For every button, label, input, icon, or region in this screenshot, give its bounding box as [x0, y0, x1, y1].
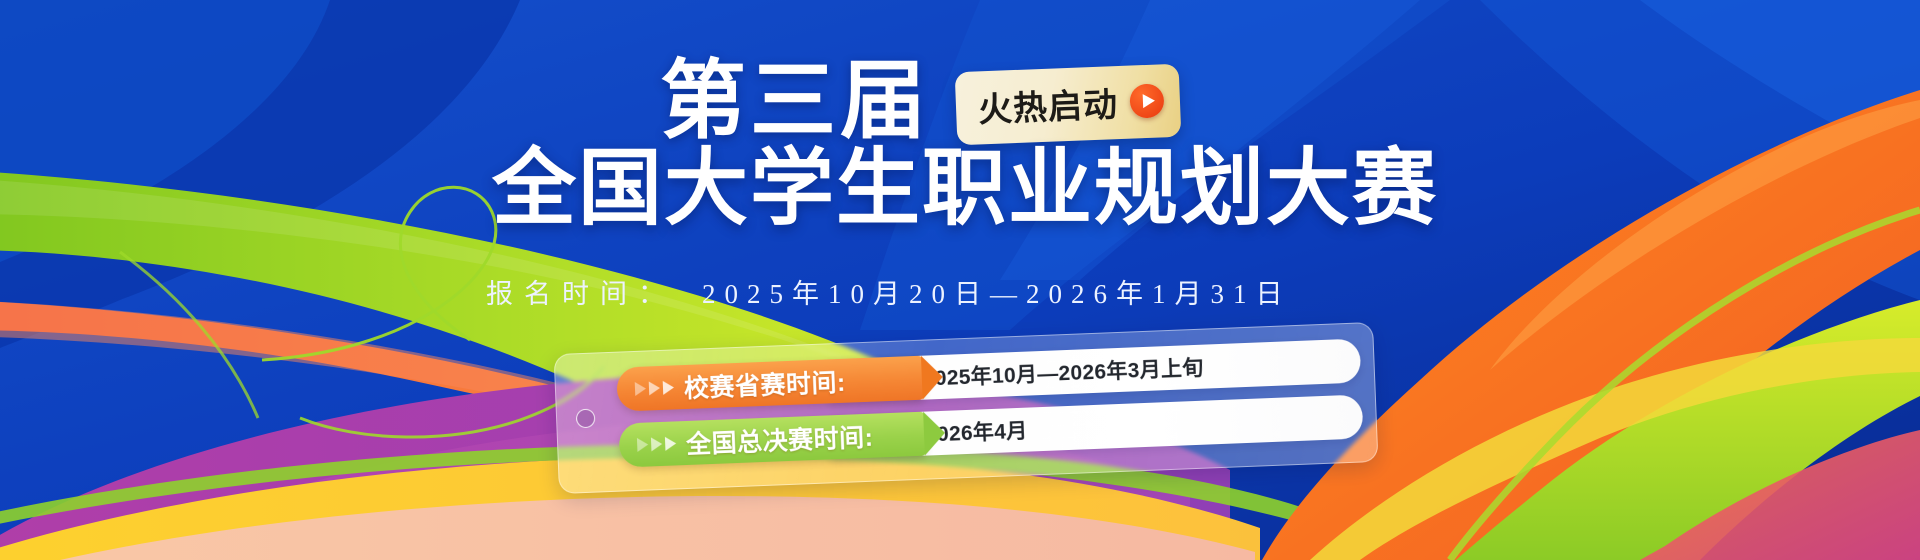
triple-arrow-icon — [637, 436, 677, 452]
triple-arrow-icon — [635, 380, 675, 396]
schedule-label-provincial: 校赛省赛时间: — [683, 363, 846, 405]
schedule-label-final: 全国总决赛时间: — [685, 418, 874, 461]
competition-banner: 第三届 火热启动 全国大学生职业规划大赛 报名时间： 2025年10月20日—2… — [0, 0, 1920, 560]
schedule-value-provincial: 2025年10月—2026年3月上旬 — [922, 352, 1204, 393]
